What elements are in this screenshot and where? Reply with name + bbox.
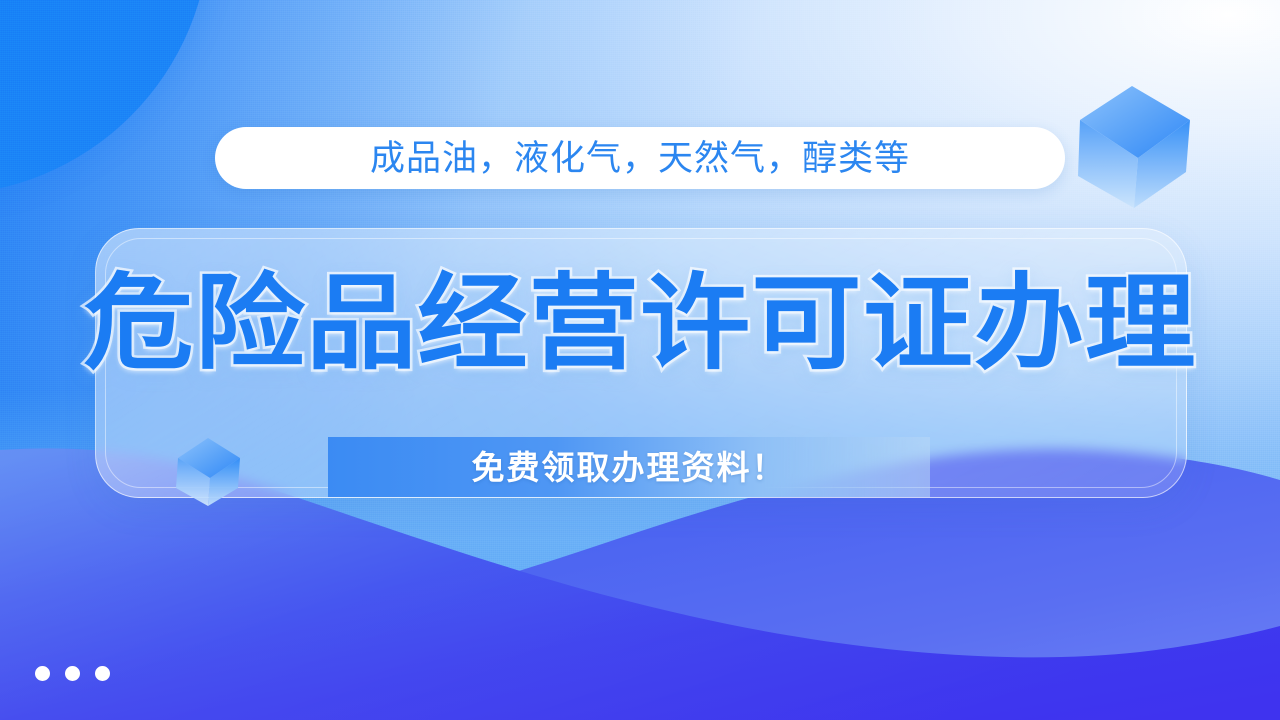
poster-canvas: 成品油，液化气，天然气，醇类等 危险品经营许可证办理 免费领取办理资料！ <box>0 0 1280 720</box>
cube-icon <box>1062 72 1202 212</box>
subtitle-text: 免费领取办理资料！ <box>472 451 787 484</box>
pagination-dot-3[interactable] <box>95 666 110 681</box>
page-title: 危险品经营许可证办理 <box>0 272 1280 376</box>
pagination-dot-2[interactable] <box>65 666 80 681</box>
tagline-text: 成品油，液化气，天然气，醇类等 <box>370 141 910 176</box>
cube-icon <box>170 430 248 508</box>
pagination-dot-1[interactable] <box>35 666 50 681</box>
pagination-dots[interactable] <box>35 666 110 681</box>
subtitle-banner: 免费领取办理资料！ <box>328 437 930 497</box>
tagline-pill: 成品油，液化气，天然气，醇类等 <box>215 127 1065 189</box>
